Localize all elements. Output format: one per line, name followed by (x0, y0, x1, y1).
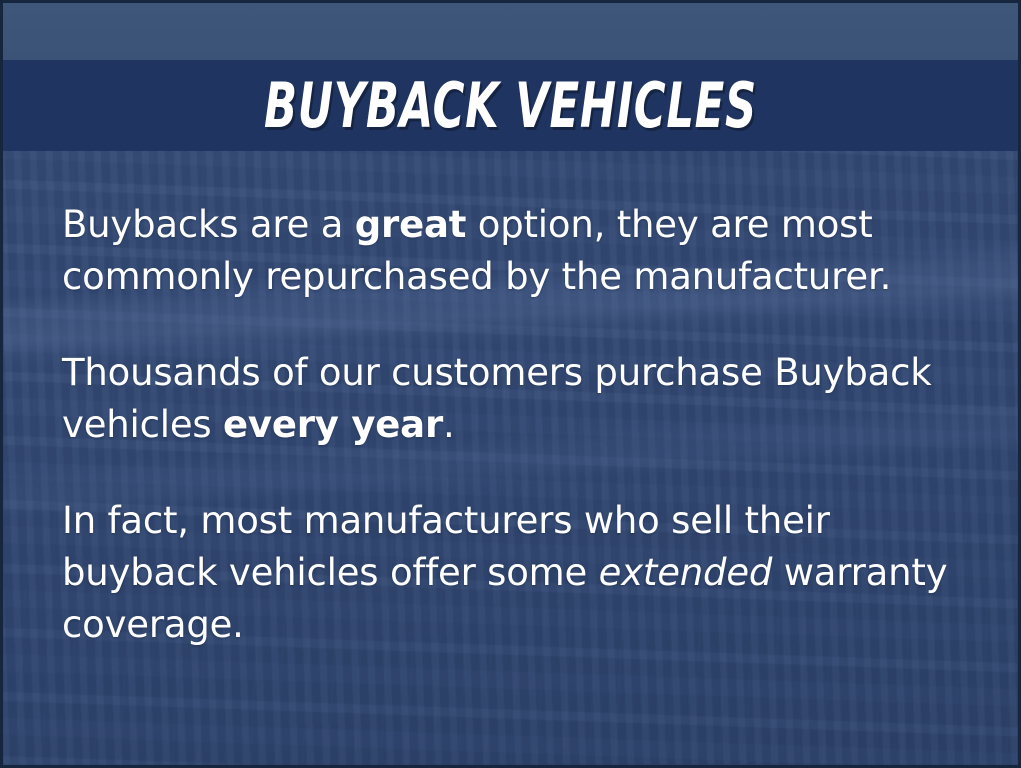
paragraph-extended-warranty: In fact, most manufacturers who sell the… (62, 495, 992, 651)
page-title: BUYBACK VEHICLES (155, 60, 866, 151)
paragraph-buybacks-great-option: Buybacks are a great option, they are mo… (62, 199, 992, 303)
emphasis-italic: extended (599, 551, 773, 594)
emphasis-bold: every year (223, 403, 443, 446)
text-run: . (443, 403, 455, 446)
body-copy: Buybacks are a great option, they are mo… (62, 199, 992, 651)
text-run: Thousands of our customers purchase Buyb… (62, 351, 931, 446)
text-run: Buybacks are a (62, 203, 355, 246)
emphasis-bold: great (355, 203, 466, 246)
header-band-light (3, 3, 1018, 60)
paragraph-thousands-purchase: Thousands of our customers purchase Buyb… (62, 347, 992, 451)
slide-root: BUYBACK VEHICLES Buybacks are a great op… (0, 0, 1021, 768)
